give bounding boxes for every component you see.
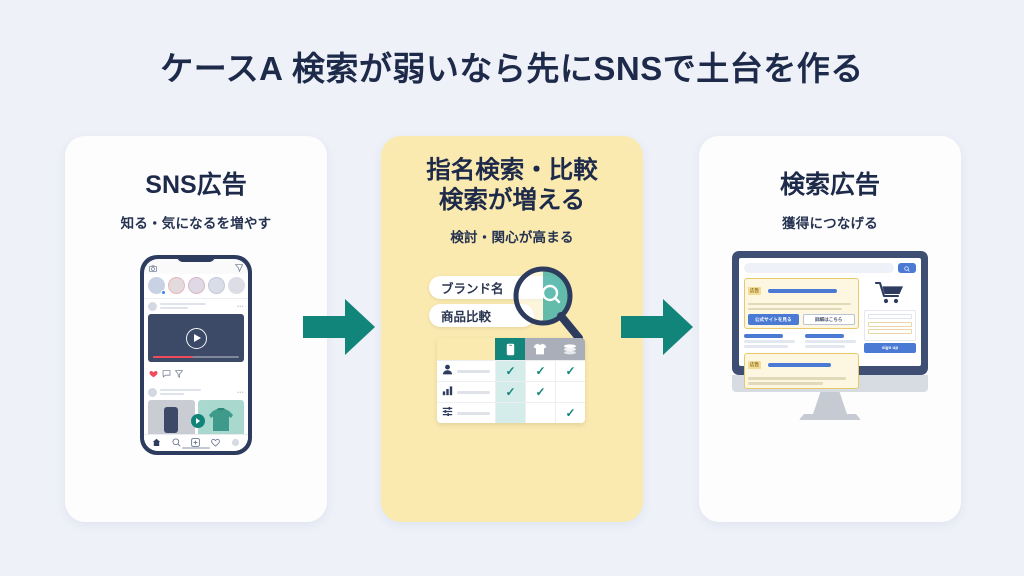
ad-cta-row[interactable]: 公式サイトを見る 詳細はこちら <box>748 314 855 325</box>
share-icon[interactable] <box>175 365 183 383</box>
monitor-bezel: 広告 公式サイトを見る 詳細はこちら <box>732 251 928 375</box>
table-cell: ✓ <box>495 361 525 381</box>
row-label-placeholder <box>457 412 490 415</box>
product-hoodie-image <box>207 407 235 433</box>
story-avatar[interactable] <box>148 277 165 294</box>
post-more-icon[interactable]: ••• <box>237 390 244 396</box>
story-new-dot <box>161 290 166 295</box>
ad-badge: 広告 <box>748 287 761 295</box>
comparison-table: ✓ ✓ ✓ ✓ ✓ <box>437 338 585 423</box>
monitor-stand <box>813 392 847 414</box>
table-header-row <box>437 338 585 360</box>
sitelink[interactable] <box>744 334 799 348</box>
serp-sitelinks[interactable] <box>744 334 859 348</box>
card-title-line-2: 検索が増える <box>381 186 643 216</box>
avatar <box>148 388 157 397</box>
card-title-search-ads: 検索広告 <box>699 170 961 201</box>
row-label-placeholder <box>457 370 490 373</box>
search-comparison-illustration: ブランド名 商品比較 <box>381 274 643 524</box>
paper-plane-icon <box>235 259 243 277</box>
card-title-branded-search: 指名検索・比較 検索が増える <box>381 156 643 216</box>
check-icon: ✓ <box>565 365 575 377</box>
play-icon[interactable] <box>186 328 207 349</box>
slide-canvas: ケースA 検索が弱いなら先にSNSで土台を作る SNS広告 知る・気になるを増や… <box>0 0 1024 576</box>
table-cell: ✓ <box>525 382 555 402</box>
heart-icon[interactable] <box>149 365 158 383</box>
camera-icon <box>149 259 157 277</box>
ad-result-primary[interactable]: 広告 公式サイトを見る 詳細はこちら <box>744 278 859 329</box>
person-icon <box>442 362 453 380</box>
heart-icon[interactable] <box>211 434 220 451</box>
card-title-line-1: 指名検索・比較 <box>381 156 643 186</box>
ad-headline-row: 広告 <box>748 282 855 300</box>
story-avatar[interactable] <box>228 277 245 294</box>
card-subtitle-sns-ads: 知る・気になるを増やす <box>65 212 327 232</box>
stack-icon[interactable] <box>555 338 585 360</box>
table-cell-empty <box>495 403 525 423</box>
form-field[interactable] <box>868 322 912 327</box>
card-branded-search: 指名検索・比較 検索が増える 検討・関心が高まる ブランド名 商品比較 <box>381 136 643 522</box>
serp-results-column: 広告 公式サイトを見る 詳細はこちら <box>744 278 859 389</box>
row-header <box>437 382 495 402</box>
serp-sidebar: sign up <box>864 278 916 389</box>
table-cell: ✓ <box>495 382 525 402</box>
card-sns-ads: SNS広告 知る・気になるを増やす <box>65 136 327 522</box>
check-icon: ✓ <box>505 386 515 398</box>
card-search-ads: 検索広告 獲得につなげる <box>699 136 961 522</box>
video-thumbnail[interactable] <box>148 314 244 362</box>
card-subtitle-branded-search: 検討・関心が高まる <box>381 226 643 246</box>
card-title-sns-ads: SNS広告 <box>65 170 327 201</box>
table-cell-empty <box>555 382 585 402</box>
video-progress-bar[interactable] <box>153 356 239 358</box>
cta-official-site-button[interactable]: 公式サイトを見る <box>748 314 799 325</box>
serp-search-row[interactable] <box>744 263 916 273</box>
sliders-icon <box>442 404 453 422</box>
avatar <box>148 302 157 311</box>
check-icon: ✓ <box>535 386 545 398</box>
magnifying-glass-icon <box>509 264 587 346</box>
signup-form[interactable] <box>864 310 916 341</box>
result-title-placeholder <box>768 289 836 293</box>
home-indicator <box>182 447 210 449</box>
check-icon: ✓ <box>565 407 575 419</box>
search-icon[interactable] <box>172 434 181 451</box>
row-header <box>437 403 495 423</box>
feed-post-video: ••• <box>144 299 248 386</box>
post-meta-placeholder <box>160 303 234 310</box>
smartphone-mockup: ••• <box>140 255 252 455</box>
search-button[interactable] <box>898 263 916 273</box>
search-input[interactable] <box>744 263 894 273</box>
table-cell-empty <box>525 403 555 423</box>
row-label-placeholder <box>457 391 490 394</box>
signup-button[interactable]: sign up <box>864 343 916 353</box>
profile-icon[interactable] <box>231 434 240 451</box>
phone-notch <box>177 255 215 262</box>
bottom-navigation-bar[interactable] <box>144 434 248 451</box>
page-title: ケースA 検索が弱いなら先にSNSで土台を作る <box>0 42 1024 90</box>
story-avatar[interactable] <box>188 277 205 294</box>
card-subtitle-search-ads: 獲得につなげる <box>699 212 961 232</box>
ad-headline-row: 広告 <box>748 357 855 375</box>
table-row: ✓ ✓ ✓ <box>437 360 585 381</box>
table-cell: ✓ <box>555 403 585 423</box>
table-cell: ✓ <box>525 361 555 381</box>
cta-details-button[interactable]: 詳細はこちら <box>803 314 856 325</box>
post-actions[interactable] <box>148 362 244 384</box>
home-icon[interactable] <box>152 434 161 451</box>
post-meta-placeholder <box>160 389 234 396</box>
shopping-cart-icon <box>864 278 916 308</box>
post-header: ••• <box>148 302 244 311</box>
arrow-2 <box>621 299 693 355</box>
table-row: ✓ <box>437 402 585 423</box>
phone-icon[interactable] <box>495 338 525 360</box>
monitor-base <box>799 414 861 420</box>
search-icon <box>904 259 910 277</box>
table-row: ✓ ✓ <box>437 381 585 402</box>
row-header <box>437 361 495 381</box>
desktop-monitor-mockup: 広告 公式サイトを見る 詳細はこちら <box>732 251 928 420</box>
comment-icon[interactable] <box>162 365 171 383</box>
serp-body: 広告 公式サイトを見る 詳細はこちら <box>744 278 916 389</box>
phone-screen: ••• <box>144 259 248 451</box>
product-phone-image <box>164 407 178 433</box>
table-cell: ✓ <box>555 361 585 381</box>
story-avatar[interactable] <box>208 277 225 294</box>
check-icon: ✓ <box>535 365 545 377</box>
sitelink[interactable] <box>805 334 860 348</box>
post-header: ••• <box>148 388 244 397</box>
post-more-icon[interactable]: ••• <box>237 304 244 310</box>
result-title-placeholder <box>768 363 830 367</box>
tshirt-icon[interactable] <box>525 338 555 360</box>
play-icon[interactable] <box>191 414 205 428</box>
check-icon: ✓ <box>505 365 515 377</box>
form-field[interactable] <box>868 329 912 334</box>
monitor-screen: 広告 公式サイトを見る 詳細はこちら <box>739 258 921 366</box>
stories-row[interactable] <box>144 274 248 299</box>
story-avatar[interactable] <box>168 277 185 294</box>
ad-result-secondary[interactable]: 広告 <box>744 353 859 389</box>
form-field[interactable] <box>868 314 912 319</box>
table-corner-cell <box>437 338 495 360</box>
ad-badge: 広告 <box>748 361 761 369</box>
bar-chart-icon <box>442 383 453 401</box>
arrow-1 <box>303 299 375 355</box>
